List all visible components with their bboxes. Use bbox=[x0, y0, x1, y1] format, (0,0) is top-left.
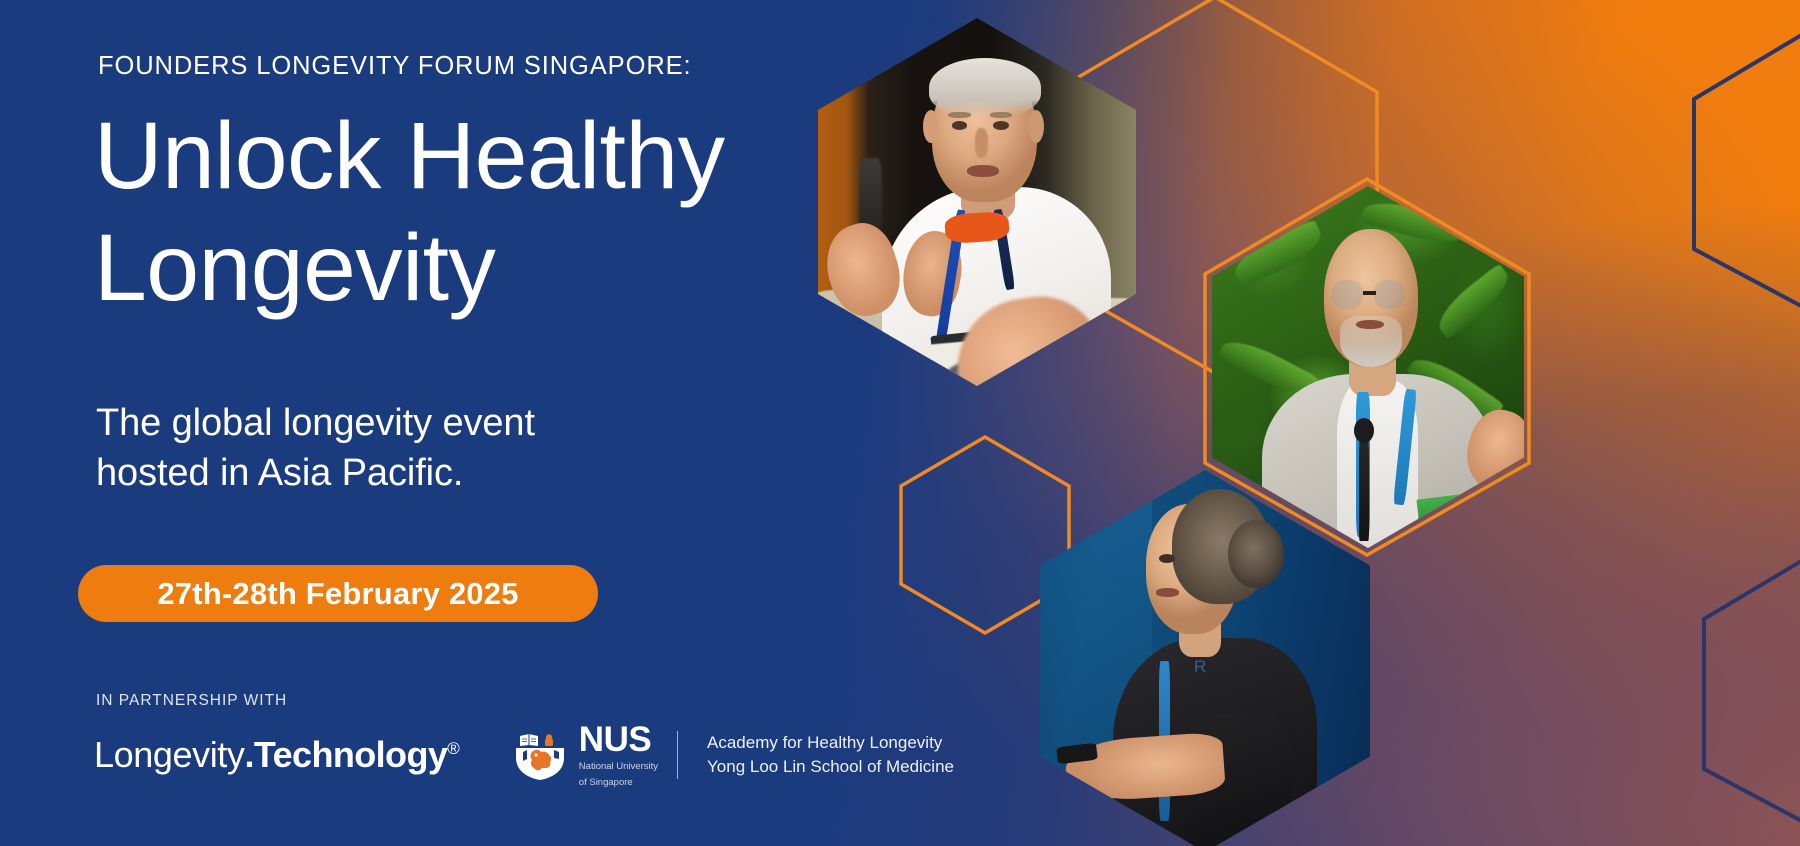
nus-faculty-line-1: Academy for Healthy Longevity bbox=[707, 731, 954, 756]
page-title: Unlock Healthy Longevity bbox=[94, 100, 724, 324]
lt-logo-bold-part: .Technology bbox=[245, 734, 448, 775]
event-promo-banner: R FOUNDERS LONGEVITY FORUM SINGAPORE: Un… bbox=[0, 0, 1800, 846]
eyebrow-text: FOUNDERS LONGEVITY FORUM SINGAPORE: bbox=[98, 52, 692, 81]
partner-logo-row: Longevity.Technology® bbox=[94, 722, 954, 789]
subheadline: The global longevity event hosted in Asi… bbox=[96, 398, 535, 498]
event-date-label: 27th-28th February 2025 bbox=[157, 576, 518, 612]
hero-content: FOUNDERS LONGEVITY FORUM SINGAPORE: Unlo… bbox=[94, 0, 954, 846]
hexagon-outline-navy-top-right bbox=[1690, 20, 1800, 320]
headline-line-1: Unlock Healthy bbox=[94, 103, 724, 209]
subheadline-line-2: hosted in Asia Pacific. bbox=[96, 448, 535, 498]
watermark-letter-r: R bbox=[1194, 657, 1206, 677]
event-date-badge[interactable]: 27th-28th February 2025 bbox=[78, 565, 598, 622]
lt-logo-light-part: Longevity bbox=[94, 734, 245, 775]
headline-line-2: Longevity bbox=[94, 212, 724, 324]
nus-logo[interactable]: NUS National University of Singapore Aca… bbox=[514, 722, 954, 789]
subheadline-line-1: The global longevity event bbox=[96, 398, 535, 448]
nus-acronym: NUS bbox=[579, 722, 658, 757]
nus-wordmark: NUS National University of Singapore bbox=[579, 722, 658, 789]
partnership-label: IN PARTNERSHIP WITH bbox=[96, 692, 287, 710]
longevity-technology-logo[interactable]: Longevity.Technology® bbox=[94, 737, 460, 773]
nus-faculty-line-2: Yong Loo Lin School of Medicine bbox=[707, 755, 954, 780]
registered-mark-icon: ® bbox=[447, 739, 460, 758]
hexagon-outline-navy-bottom-right bbox=[1700, 540, 1800, 840]
nus-faculty-name: Academy for Healthy Longevity Yong Loo L… bbox=[707, 731, 954, 780]
nus-subtitle-line-2: of Singapore bbox=[579, 777, 658, 789]
nus-divider bbox=[677, 731, 678, 779]
nus-subtitle-line-1: National University bbox=[579, 761, 658, 773]
nus-crest-icon bbox=[514, 728, 566, 782]
